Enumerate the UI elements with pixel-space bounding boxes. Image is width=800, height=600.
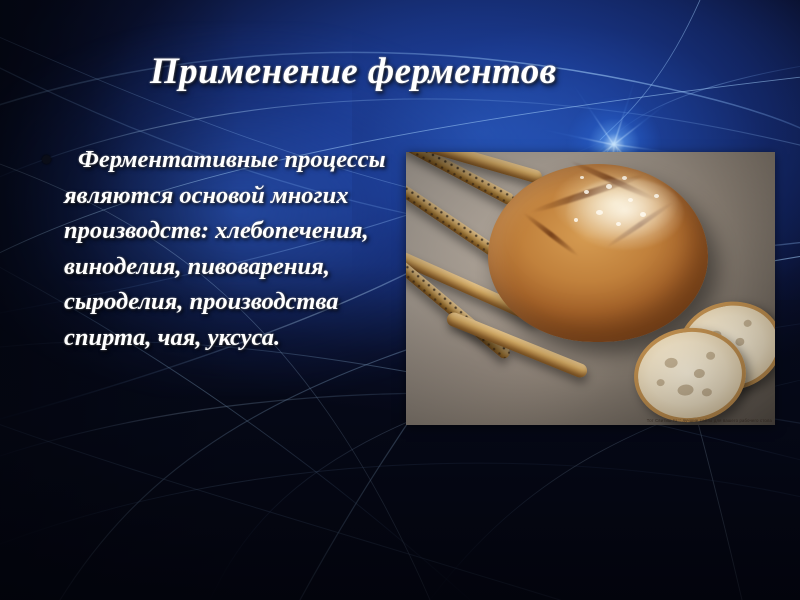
photo-watermark: Тот Свитиш.ru :: лучшие сайты для вашего… — [647, 418, 772, 423]
slide-title: Применение ферментов — [150, 50, 790, 93]
presentation-slide: Применение ферментов Ферментативные проц… — [0, 0, 800, 600]
bread-photo: Тот Свитиш.ru :: лучшие сайты для вашего… — [406, 152, 775, 425]
bullet-item-text: Ферментативные процессы являются основой… — [64, 142, 414, 355]
bullet-list-item: Ферментативные процессы являются основой… — [42, 142, 414, 355]
bullet-dot-icon — [42, 155, 51, 164]
slide-body: Ферментативные процессы являются основой… — [42, 142, 414, 355]
photo-vignette — [406, 152, 775, 425]
